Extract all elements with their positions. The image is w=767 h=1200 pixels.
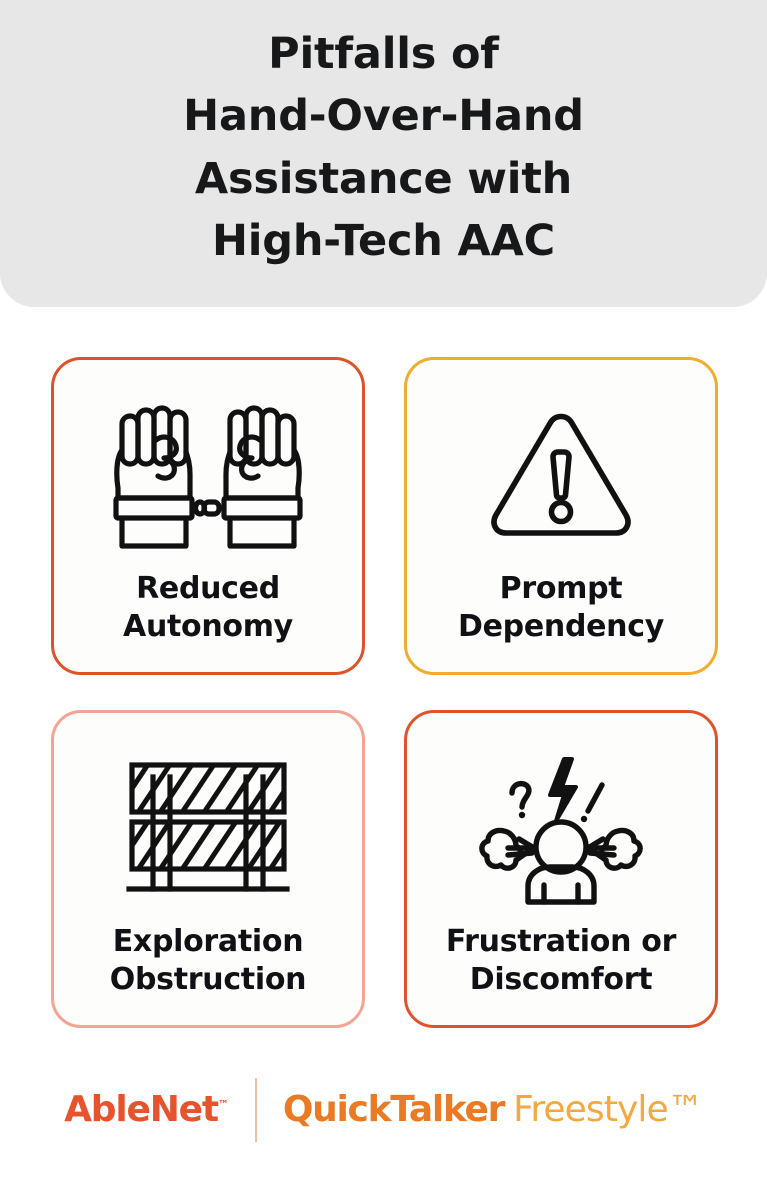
page-title: Pitfalls of Hand-Over-Hand Assistance wi… (143, 23, 624, 284)
card-label: Frustration or Discomfort (438, 923, 684, 999)
header-banner: Pitfalls of Hand-Over-Hand Assistance wi… (0, 0, 767, 307)
freestyle-wordmark: Freestyle (513, 1092, 668, 1128)
ablenet-logo: AbleNet™ (64, 1092, 229, 1128)
infographic-poster: Pitfalls of Hand-Over-Hand Assistance wi… (0, 0, 767, 1200)
card-reduced-autonomy[interactable]: Reduced Autonomy (51, 357, 365, 675)
ablenet-wordmark: AbleNet (64, 1089, 218, 1130)
brand-footer: AbleNet™ QuickTalker Freestyle™ (0, 1072, 767, 1148)
frustrated-person-icon (472, 749, 650, 909)
card-exploration-obstruction[interactable]: Exploration Obstruction (51, 710, 365, 1028)
card-prompt-dependency[interactable]: Prompt Dependency (404, 357, 718, 675)
freestyle-trademark-icon: ™ (668, 1092, 703, 1128)
logo-divider (255, 1078, 257, 1142)
card-label: Exploration Obstruction (102, 923, 314, 999)
handcuffed-fists-icon (108, 396, 308, 556)
card-label: Reduced Autonomy (115, 570, 301, 646)
pitfalls-card-grid: Reduced Autonomy Prompt Dependency (51, 357, 718, 1028)
road-barrier-icon (123, 749, 293, 909)
quicktalker-freestyle-logo: QuickTalker Freestyle™ (283, 1092, 703, 1128)
quicktalker-wordmark: QuickTalker (283, 1092, 504, 1128)
ablenet-trademark-icon: ™ (218, 1098, 229, 1111)
warning-triangle-icon (486, 396, 636, 556)
card-frustration-discomfort[interactable]: Frustration or Discomfort (404, 710, 718, 1028)
card-label: Prompt Dependency (450, 570, 672, 646)
